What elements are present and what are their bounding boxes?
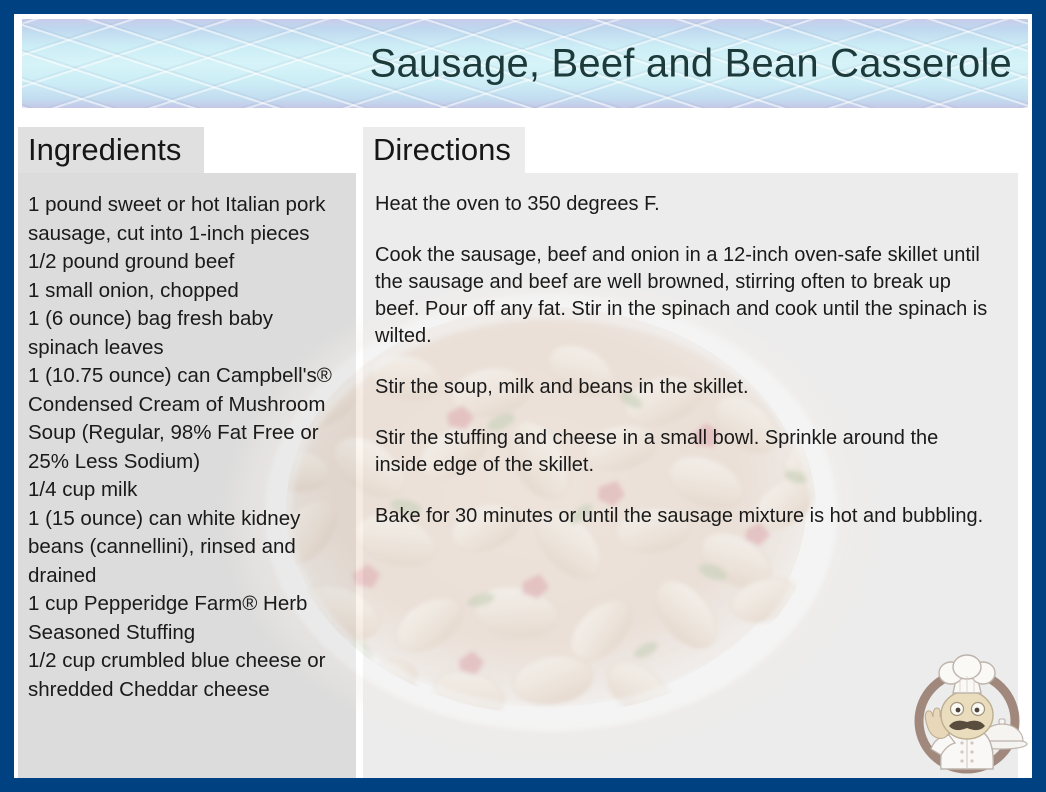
chef-with-platter-logo — [901, 651, 1033, 783]
section-heading-ingredients: Ingredients — [18, 127, 204, 173]
direction-step: Stir the stuffing and cheese in a small … — [375, 425, 996, 479]
direction-step: Stir the soup, milk and beans in the ski… — [375, 374, 996, 401]
ingredients-panel: 1 pound sweet or hot Italian pork sausag… — [18, 173, 356, 778]
recipe-card: Sausage, Beef and Bean Casserole Ingredi… — [0, 0, 1046, 792]
section-heading-directions: Directions — [363, 127, 525, 173]
list-item: 1 pound sweet or hot Italian pork sausag… — [28, 191, 348, 248]
list-item: 1 (6 ounce) bag fresh baby spinach leave… — [28, 305, 348, 362]
ingredients-list: 1 pound sweet or hot Italian pork sausag… — [18, 173, 356, 704]
list-item: 1/2 pound ground beef — [28, 248, 348, 277]
direction-step: Bake for 30 minutes or until the sausage… — [375, 503, 996, 530]
directions-list: Heat the oven to 350 degrees F. Cook the… — [363, 173, 1018, 530]
list-item: 1 cup Pepperidge Farm® Herb Seasoned Stu… — [28, 590, 348, 647]
direction-step: Cook the sausage, beef and onion in a 12… — [375, 242, 996, 350]
list-item: 1 (10.75 ounce) can Campbell's® Condense… — [28, 362, 348, 476]
title-banner: Sausage, Beef and Bean Casserole — [22, 19, 1028, 108]
page-title: Sausage, Beef and Bean Casserole — [370, 41, 1012, 86]
list-item: 1 (15 ounce) can white kidney beans (can… — [28, 505, 348, 591]
list-item: 1/4 cup milk — [28, 476, 348, 505]
list-item: 1/2 cup crumbled blue cheese or shredded… — [28, 647, 348, 704]
direction-step: Heat the oven to 350 degrees F. — [375, 191, 996, 218]
list-item: 1 small onion, chopped — [28, 277, 348, 306]
